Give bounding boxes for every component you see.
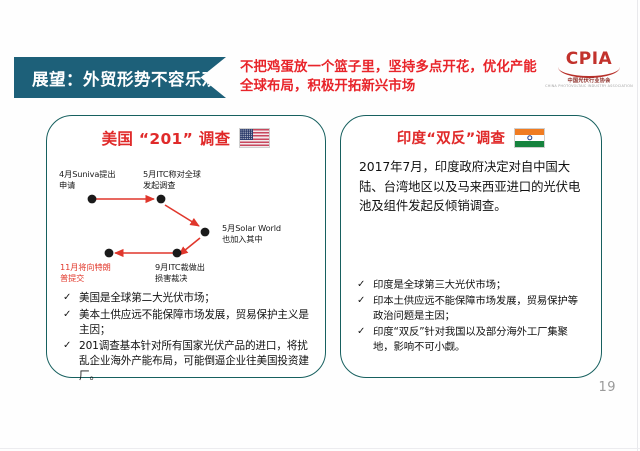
card-us-title-row: 美国 “201” 调查 xyxy=(47,127,325,149)
timeline-node-5 xyxy=(105,249,114,258)
card-india-title: 印度“双反”调查 xyxy=(397,127,505,148)
check-icon: ✓ xyxy=(357,294,365,308)
us-201-timeline-diagram: 4月Suniva提出 申请 5月ITC称对全球 发起调查 5月Solar Wor… xyxy=(47,153,327,289)
card-us-title: 美国 “201” 调查 xyxy=(102,127,231,149)
list-item-text: 印本土供应远不能保障市场发展，贸易保护等政治问题是主因； xyxy=(373,295,578,322)
india-bullet-list: ✓ 印度是全球第三大光伏市场； ✓ 印本土供应远不能保障市场发展，贸易保护等政治… xyxy=(341,278,601,355)
list-item-text: 美国是全球第二大光伏市场； xyxy=(79,292,215,304)
list-item: ✓ 印本土供应远不能保障市场发展，贸易保护等政治问题是主因； xyxy=(357,294,587,324)
timeline-node-2 xyxy=(157,195,166,204)
slide-canvas: 展望：外贸形势不容乐观 不把鸡蛋放一个篮子里，坚持多点开花，优化产能全球布局，积… xyxy=(0,0,640,451)
logo-english-name: CHINA PHOTOVOLTAIC INDUSTRY ASSOCIATION xyxy=(545,85,633,89)
timeline-node-4 xyxy=(173,249,182,258)
slide-frame-bottom-edge xyxy=(0,448,640,449)
timeline-node-3 xyxy=(201,228,210,237)
list-item: ✓ 美国是全球第二大光伏市场； xyxy=(63,291,311,306)
check-icon: ✓ xyxy=(63,291,71,305)
india-flag-icon xyxy=(514,128,545,148)
timeline-label-3: 5月Solar World 也加入其中 xyxy=(222,223,281,244)
cpia-logo: CPIA 中国光伏行业协会 CHINA PHOTOVOLTAIC INDUSTR… xyxy=(550,47,628,93)
check-icon: ✓ xyxy=(357,278,365,292)
logo-swoosh-icon xyxy=(558,67,620,78)
us-bullet-list: ✓ 美国是全球第二大光伏市场； ✓ 美本土供应远不能保障市场发展，贸易保护主义是… xyxy=(47,291,325,384)
list-item-text: 美本土供应远不能保障市场发展，贸易保护主义是主因； xyxy=(79,309,309,336)
headline-message: 不把鸡蛋放一个篮子里，坚持多点开花，优化产能全球布局，积极开拓新兴市场 xyxy=(240,58,540,96)
slide-frame-right-edge xyxy=(637,0,638,451)
timeline-label-5: 11月将向特朗 普提交 xyxy=(60,262,111,283)
timeline-label-4: 9月ITC裁做出 损害裁决 xyxy=(155,262,205,283)
card-us-201-investigation: 美国 “201” 调查 xyxy=(46,115,326,378)
page-number: 19 xyxy=(598,380,616,395)
timeline-node-1 xyxy=(88,195,97,204)
section-title-text: 展望：外贸形势不容乐观 xyxy=(32,66,219,90)
list-item-text: 印度“双反”针对我国以及部分海外工厂集聚地，影响不可小觑。 xyxy=(373,326,568,353)
list-item-text: 印度是全球第三大光伏市场； xyxy=(373,279,506,291)
card-india-double-reverse-investigation: 印度“双反”调查 2017年7月，印度政府决定对自中国大陆、台湾地区以及马来西亚… xyxy=(340,115,602,378)
card-india-title-row: 印度“双反”调查 xyxy=(341,127,601,148)
check-icon: ✓ xyxy=(357,325,365,339)
section-title-banner: 展望：外贸形势不容乐观 xyxy=(14,57,226,98)
list-item-text: 201调查基本针对所有国家光伏产品的进口，将扰乱企业海外产能布局，可能倒逼企业往… xyxy=(79,340,309,382)
list-item: ✓ 美本土供应远不能保障市场发展，贸易保护主义是主因； xyxy=(63,308,311,338)
logo-wordmark: CPIA xyxy=(566,51,612,68)
list-item: ✓ 印度“双反”针对我国以及部分海外工厂集聚地，影响不可小觑。 xyxy=(357,325,587,355)
us-flag-icon xyxy=(239,128,270,148)
check-icon: ✓ xyxy=(63,339,71,353)
check-icon: ✓ xyxy=(63,308,71,322)
timeline-label-1: 4月Suniva提出 申请 xyxy=(59,169,116,190)
timeline-label-2: 5月ITC称对全球 发起调查 xyxy=(143,169,201,190)
list-item: ✓ 印度是全球第三大光伏市场； xyxy=(357,278,587,293)
india-summary-paragraph: 2017年7月，印度政府决定对自中国大陆、台湾地区以及马来西亚进口的光伏电池及组… xyxy=(359,157,585,216)
list-item: ✓ 201调查基本针对所有国家光伏产品的进口，将扰乱企业海外产能布局，可能倒逼企… xyxy=(63,339,311,384)
